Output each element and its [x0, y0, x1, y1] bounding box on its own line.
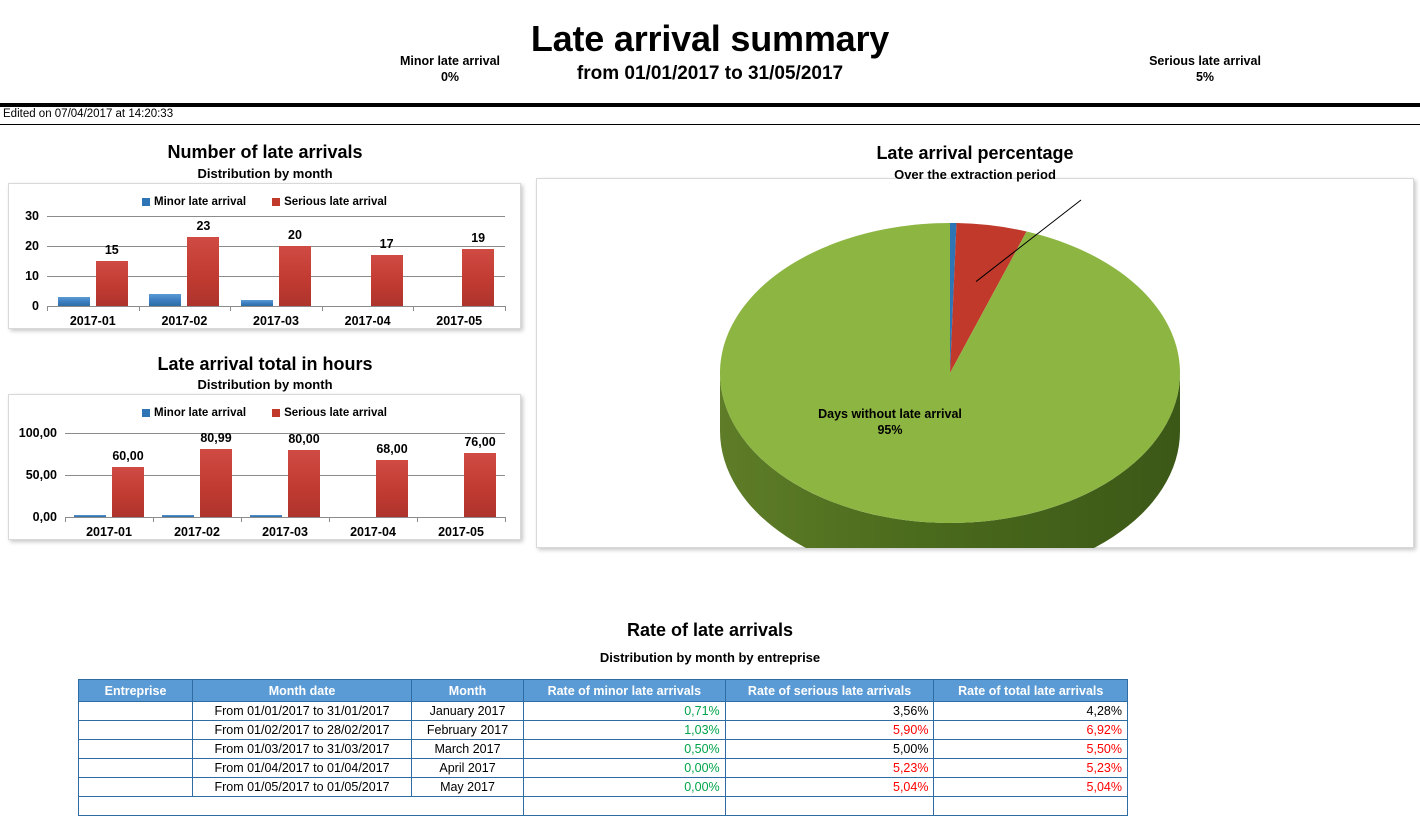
legend-item-minor: Minor late arrival: [142, 196, 246, 208]
y-axis-tick-label: 100,00: [0, 426, 57, 440]
cell-rate-minor: 1,03%: [524, 721, 726, 740]
bar-value-label: 17: [352, 237, 422, 251]
x-axis-tick-label: 2017-02: [153, 525, 241, 539]
cell-total-total: 5,39%: [934, 797, 1128, 816]
bar-value-label: 76,00: [445, 435, 515, 449]
cell-month: April 2017: [412, 759, 524, 778]
pie-label-days-percent: 95%: [770, 423, 1010, 439]
bar-minor: [241, 300, 273, 306]
cell-month-date: From 01/03/2017 to 31/03/2017: [193, 740, 412, 759]
x-axis-tick-label: 2017-04: [322, 314, 414, 328]
legend-swatch-minor-icon: [142, 409, 150, 417]
table-row: From 01/04/2017 to 01/04/2017April 20170…: [79, 759, 1128, 778]
cell-rate-total: 4,28%: [934, 702, 1128, 721]
x-axis-tick-label: 2017-02: [139, 314, 231, 328]
cell-rate-serious: 5,23%: [725, 759, 934, 778]
bar-minor: [162, 515, 194, 517]
y-axis-tick-label: 50,00: [0, 468, 57, 482]
cell-total-serious: 4,95%: [725, 797, 934, 816]
bar-value-label: 68,00: [357, 442, 427, 456]
x-axis-separator: [241, 517, 242, 522]
gridline: [47, 306, 505, 307]
y-axis-tick-label: 30: [0, 209, 39, 223]
legend-item-serious: Serious late arrival: [272, 196, 387, 208]
x-axis-tick-label: 2017-04: [329, 525, 417, 539]
report-page: Late arrival summary from 01/01/2017 to …: [0, 0, 1420, 818]
cell-rate-serious: 3,56%: [725, 702, 934, 721]
cell-rate-total: 5,23%: [934, 759, 1128, 778]
bar-serious: [464, 453, 496, 517]
chart-legend-count: Minor late arrival Serious late arrival: [8, 194, 521, 210]
table-column-header: Month: [412, 680, 524, 702]
pie-label-days-without: Days without late arrival 95%: [770, 407, 1010, 438]
cell-entreprise: [79, 778, 193, 797]
bar-value-label: 20: [260, 228, 330, 242]
chart-title-count: Number of late arrivals: [0, 142, 530, 163]
bar-serious: [279, 246, 311, 306]
chart-subtitle-count: Distribution by month: [0, 166, 530, 181]
pie-label-minor-percent: 0%: [330, 70, 570, 86]
table-subtitle: Distribution by month by entreprise: [0, 650, 1420, 665]
bar-serious: [112, 467, 144, 517]
gridline: [47, 216, 505, 217]
chart-title-hours: Late arrival total in hours: [0, 354, 530, 375]
bar-minor: [74, 515, 106, 517]
bar-serious: [96, 261, 128, 306]
cell-rate-minor: 0,50%: [524, 740, 726, 759]
pie-label-minor: Minor late arrival 0%: [330, 54, 570, 85]
cell-rate-total: 6,92%: [934, 721, 1128, 740]
table-title: Rate of late arrivals: [0, 620, 1420, 641]
cell-entreprise: [79, 721, 193, 740]
table-column-header: Rate of serious late arrivals: [725, 680, 934, 702]
chart-legend-hours: Minor late arrival Serious late arrival: [8, 405, 521, 421]
x-axis-edge: [505, 306, 506, 311]
bar-serious: [200, 449, 232, 517]
cell-rate-serious: 5,00%: [725, 740, 934, 759]
x-axis-tick-label: 2017-01: [65, 525, 153, 539]
bar-serious: [288, 450, 320, 517]
cell-month-date: From 01/04/2017 to 01/04/2017: [193, 759, 412, 778]
cell-entreprise: [79, 740, 193, 759]
chart-subtitle-hours: Distribution by month: [0, 377, 530, 392]
x-axis-tick-label: 2017-01: [47, 314, 139, 328]
table-header-row: EntrepriseMonth dateMonthRate of minor l…: [79, 680, 1128, 702]
bar-minor: [149, 294, 181, 306]
cell-total-label: Total: [79, 797, 524, 816]
bar-minor: [58, 297, 90, 306]
cell-month: May 2017: [412, 778, 524, 797]
x-axis-tick-label: 2017-03: [241, 525, 329, 539]
legend-swatch-minor-icon: [142, 198, 150, 206]
cell-month: March 2017: [412, 740, 524, 759]
table-body: From 01/01/2017 to 31/01/2017January 201…: [79, 702, 1128, 816]
legend-item-serious: Serious late arrival: [272, 407, 387, 419]
x-axis-separator: [322, 306, 323, 311]
table-row: From 01/01/2017 to 31/01/2017January 201…: [79, 702, 1128, 721]
bar-value-label: 80,00: [269, 432, 339, 446]
x-axis-separator: [139, 306, 140, 311]
legend-label-serious: Serious late arrival: [284, 407, 387, 419]
pie-label-minor-name: Minor late arrival: [330, 54, 570, 70]
y-axis-tick-label: 20: [0, 239, 39, 253]
header-divider: [0, 103, 1420, 107]
table-column-header: Rate of minor late arrivals: [524, 680, 726, 702]
legend-label-minor: Minor late arrival: [154, 196, 246, 208]
bar-value-label: 15: [77, 243, 147, 257]
table-column-header: Month date: [193, 680, 412, 702]
cell-total-minor: 0,45%: [524, 797, 726, 816]
bar-serious: [462, 249, 494, 306]
cell-rate-minor: 0,00%: [524, 759, 726, 778]
legend-label-serious: Serious late arrival: [284, 196, 387, 208]
table-column-header: Entreprise: [79, 680, 193, 702]
bar-value-label: 60,00: [93, 449, 163, 463]
legend-swatch-serious-icon: [272, 198, 280, 206]
bar-serious: [187, 237, 219, 306]
x-axis-edge: [47, 306, 48, 311]
gridline: [65, 517, 505, 518]
x-axis-edge: [65, 517, 66, 522]
x-axis-separator: [153, 517, 154, 522]
cell-rate-serious: 5,04%: [725, 778, 934, 797]
bar-minor: [250, 515, 282, 517]
table-row: From 01/02/2017 to 28/02/2017February 20…: [79, 721, 1128, 740]
x-axis-tick-label: 2017-05: [413, 314, 505, 328]
x-axis-tick-label: 2017-05: [417, 525, 505, 539]
pie-label-serious-name: Serious late arrival: [1085, 54, 1325, 70]
bar-serious: [376, 460, 408, 517]
cell-month-date: From 01/01/2017 to 31/01/2017: [193, 702, 412, 721]
x-axis-tick-label: 2017-03: [230, 314, 322, 328]
bar-serious: [371, 255, 403, 306]
table-row: From 01/05/2017 to 01/05/2017May 20170,0…: [79, 778, 1128, 797]
edited-timestamp: Edited on 07/04/2017 at 14:20:33: [3, 108, 173, 120]
cell-rate-minor: 0,00%: [524, 778, 726, 797]
rate-of-late-arrivals-table: EntrepriseMonth dateMonthRate of minor l…: [78, 679, 1128, 816]
bar-value-label: 23: [168, 219, 238, 233]
cell-month-date: From 01/05/2017 to 01/05/2017: [193, 778, 412, 797]
pie-label-serious-percent: 5%: [1085, 70, 1325, 86]
chart-title-pie: Late arrival percentage: [536, 143, 1414, 164]
cell-rate-total: 5,04%: [934, 778, 1128, 797]
legend-swatch-serious-icon: [272, 409, 280, 417]
x-axis-separator: [413, 306, 414, 311]
table-column-header: Rate of total late arrivals: [934, 680, 1128, 702]
x-axis-separator: [329, 517, 330, 522]
x-axis-separator: [230, 306, 231, 311]
table-total-row: Total0,45%4,95%5,39%: [79, 797, 1128, 816]
cell-rate-minor: 0,71%: [524, 702, 726, 721]
legend-label-minor: Minor late arrival: [154, 407, 246, 419]
pie-label-days-name: Days without late arrival: [770, 407, 1010, 423]
x-axis-edge: [505, 517, 506, 522]
cell-rate-serious: 5,90%: [725, 721, 934, 740]
cell-month: February 2017: [412, 721, 524, 740]
y-axis-tick-label: 10: [0, 269, 39, 283]
pie-chart-graphic: [536, 178, 1414, 548]
cell-month: January 2017: [412, 702, 524, 721]
pie-label-serious: Serious late arrival 5%: [1085, 54, 1325, 85]
table-row: From 01/03/2017 to 31/03/2017March 20170…: [79, 740, 1128, 759]
bar-value-label: 19: [443, 231, 513, 245]
table-header: EntrepriseMonth dateMonthRate of minor l…: [79, 680, 1128, 702]
edited-divider: [0, 124, 1420, 125]
cell-month-date: From 01/02/2017 to 28/02/2017: [193, 721, 412, 740]
cell-entreprise: [79, 759, 193, 778]
cell-rate-total: 5,50%: [934, 740, 1128, 759]
x-axis-separator: [417, 517, 418, 522]
pie-slice-days-without: [720, 223, 1180, 523]
cell-entreprise: [79, 702, 193, 721]
bar-value-label: 80,99: [181, 431, 251, 445]
legend-item-minor: Minor late arrival: [142, 407, 246, 419]
y-axis-tick-label: 0,00: [0, 510, 57, 524]
y-axis-tick-label: 0: [0, 299, 39, 313]
